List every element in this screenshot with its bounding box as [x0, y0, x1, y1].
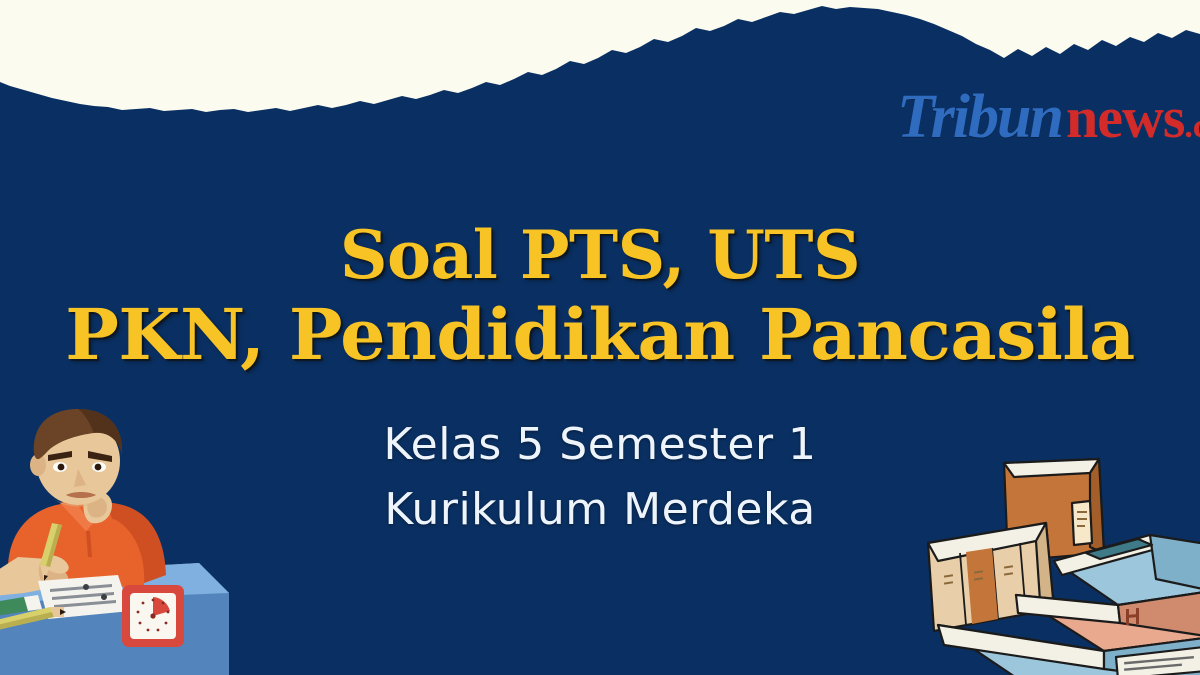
subtitle-line-1: Kelas 5 Semester 1 — [0, 412, 1200, 477]
subtitle-line-2: Kurikulum Merdeka — [0, 477, 1200, 542]
headline-line-1: Soal PTS, UTS — [0, 222, 1200, 288]
tribunnews-logo[interactable]: Tribun news .c — [897, 86, 1200, 148]
poster-canvas: Tribun news .c Soal PTS, UTS PKN, Pendid… — [0, 0, 1200, 675]
logo-news-text: news — [1066, 89, 1184, 147]
desk-clock — [122, 585, 184, 647]
logo-tld-text: .c — [1184, 110, 1200, 144]
headline-line-2: PKN, Pendidikan Pancasila — [0, 300, 1200, 370]
logo-tribun-text: Tribun — [897, 86, 1062, 148]
subtitle-block: Kelas 5 Semester 1 Kurikulum Merdeka — [0, 412, 1200, 542]
headline-block: Soal PTS, UTS PKN, Pendidikan Pancasila — [0, 222, 1200, 370]
